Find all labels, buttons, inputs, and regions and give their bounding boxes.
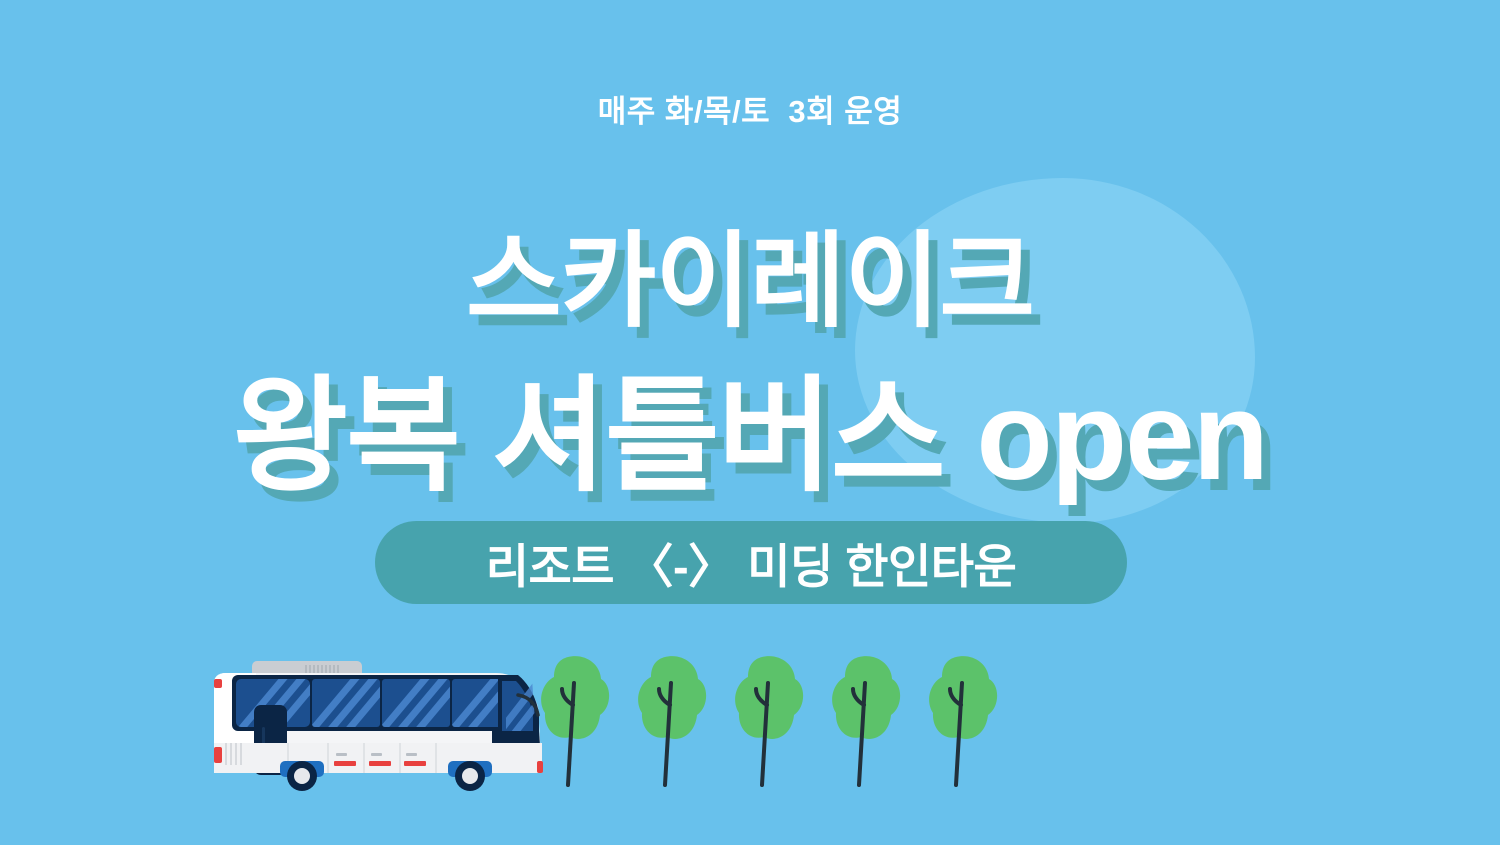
tree-3 (734, 655, 806, 787)
headline-line-2: 왕복 셔틀버스 open (0, 373, 1500, 501)
route-badge-label: 리조트 〈-〉 미딩 한인타운 (486, 528, 1017, 597)
tree-4 (831, 655, 903, 787)
headline-line-1: 스카이레이크 (0, 229, 1500, 335)
headline: 스카이레이크 왕복 셔틀버스 open (0, 196, 1500, 533)
tree-5 (928, 655, 1000, 787)
promo-banner: 매주 화/목/토 3회 운영 스카이레이크 왕복 셔틀버스 open 리조트 〈… (0, 0, 1500, 845)
shuttle-bus-illustration (196, 643, 566, 798)
kicker-text: 매주 화/목/토 3회 운영 (0, 86, 1500, 131)
route-badge: 리조트 〈-〉 미딩 한인타운 (375, 521, 1127, 604)
tree-2 (637, 655, 709, 787)
